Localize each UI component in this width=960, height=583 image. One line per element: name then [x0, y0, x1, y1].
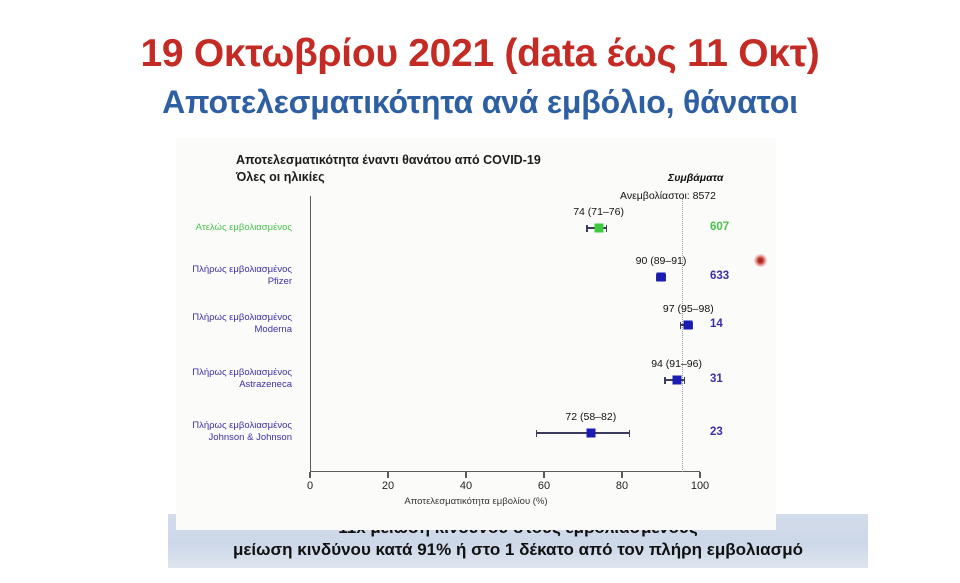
estimate-label-1: 74 (71–76): [573, 206, 624, 218]
panel-overlap-mask: [176, 514, 776, 530]
confidence-interval-5: [536, 432, 630, 433]
estimate-label-3: 97 (95–98): [663, 303, 714, 315]
ci-cap-4-low: [664, 377, 665, 384]
row-label-line1: Ατελώς εμβολιασμένος: [196, 222, 292, 234]
reference-line-100: [682, 194, 683, 472]
events-count-4: 31: [710, 373, 723, 385]
point-marker-2: [657, 273, 666, 282]
row-label-1: Ατελώς εμβολιασμένος: [196, 222, 292, 234]
estimate-label-5: 72 (58–82): [565, 411, 616, 423]
ci-cap-1-low: [586, 225, 587, 232]
slide-title: 19 Οκτωβρίου 2021 (data έως 11 Οκτ): [0, 32, 960, 76]
events-count-3: 14: [710, 318, 723, 330]
ci-cap-1-high: [606, 225, 607, 232]
x-axis-line: [310, 471, 700, 472]
row-label-line2: Astrazeneca: [192, 379, 292, 391]
events-count-1: 607: [710, 221, 729, 233]
x-tick-label-60: 60: [538, 480, 550, 492]
point-marker-4: [672, 376, 681, 385]
estimate-label-2: 90 (89–91): [636, 255, 687, 267]
x-tick-80: [621, 472, 622, 478]
row-label-line2: Johnson & Johnson: [192, 432, 292, 444]
x-tick-label-100: 100: [691, 480, 709, 492]
chart-panel: Αποτελεσματικότητα έναντι θανάτου από CO…: [176, 138, 776, 534]
x-tick-60: [543, 472, 544, 478]
row-label-5: Πλήρως εμβολιασμένοςJohnson & Johnson: [192, 420, 292, 444]
point-marker-1: [594, 224, 603, 233]
point-marker-3: [684, 321, 693, 330]
row-label-4: Πλήρως εμβολιασμένοςAstrazeneca: [192, 367, 292, 391]
row-label-line1: Πλήρως εμβολιασμένος: [192, 367, 292, 379]
slide-subtitle: Αποτελεσματικότητα ανά εμβόλιο, θάνατοι: [0, 84, 960, 121]
row-label-3: Πλήρως εμβολιασμένοςModerna: [192, 312, 292, 336]
x-tick-label-40: 40: [460, 480, 472, 492]
x-tick-0: [309, 472, 310, 478]
row-label-line1: Πλήρως εμβολιασμένος: [192, 420, 292, 432]
y-axis-line: [310, 196, 311, 472]
row-label-line1: Πλήρως εμβολιασμένος: [192, 312, 292, 324]
estimate-label-4: 94 (91–96): [651, 358, 702, 370]
ci-cap-4-high: [684, 377, 685, 384]
events-count-2: 633: [710, 270, 729, 282]
row-label-2: Πλήρως εμβολιασμένοςPfizer: [192, 264, 292, 288]
x-tick-label-0: 0: [307, 480, 313, 492]
x-axis-label: Αποτελεσματικότητα εμβολίου (%): [176, 496, 776, 507]
x-tick-label-20: 20: [382, 480, 394, 492]
plot-area: 020406080100 Αποτελεσματικότητα εμβολίου…: [176, 138, 776, 534]
x-tick-20: [387, 472, 388, 478]
row-label-line1: Πλήρως εμβολιασμένος: [192, 264, 292, 276]
events-count-5: 23: [710, 426, 723, 438]
row-label-line2: Pfizer: [192, 276, 292, 288]
x-tick-100: [699, 472, 700, 478]
row-label-line2: Moderna: [192, 324, 292, 336]
ci-cap-5-high: [629, 430, 630, 437]
banner-line-2: μείωση κινδύνου κατά 91% ή στο 1 δέκατο …: [168, 540, 868, 560]
x-tick-label-80: 80: [616, 480, 628, 492]
laser-pointer-dot: [754, 254, 767, 267]
ci-cap-5-low: [536, 430, 537, 437]
ci-cap-3-low: [680, 322, 681, 329]
x-tick-40: [465, 472, 466, 478]
point-marker-5: [586, 429, 595, 438]
